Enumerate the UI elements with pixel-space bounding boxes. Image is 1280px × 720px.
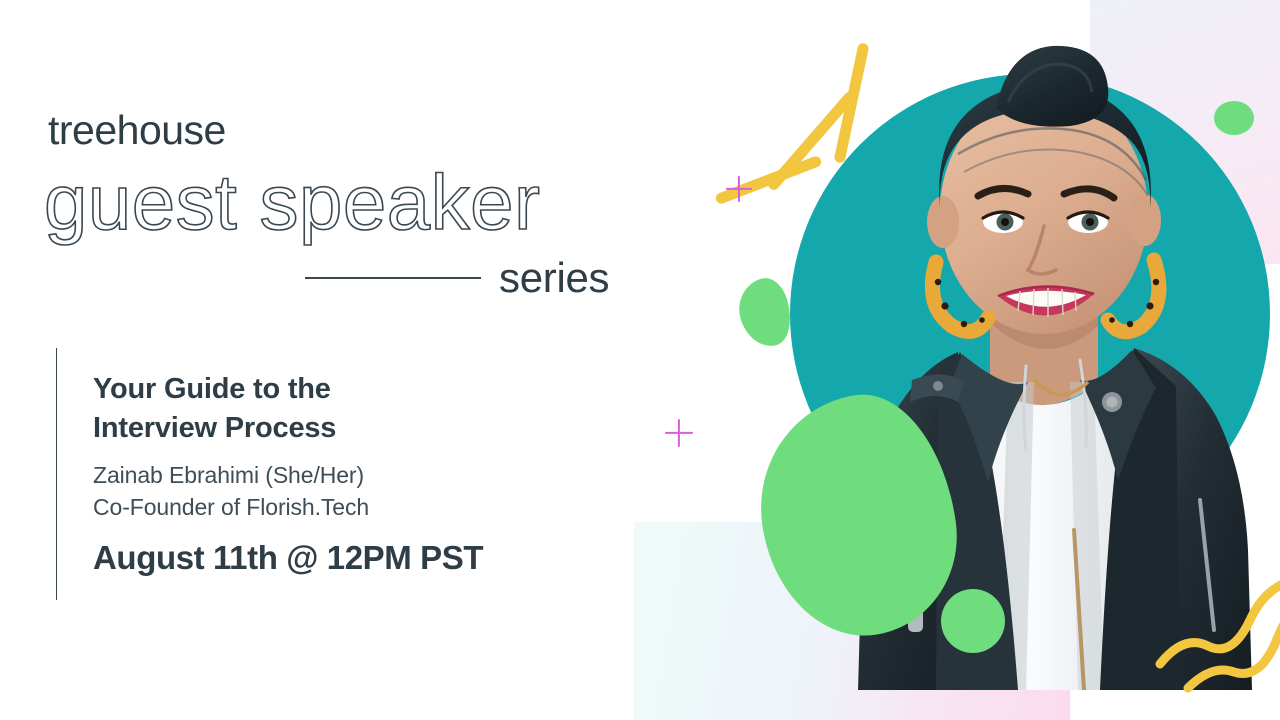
plus-mark-icon xyxy=(665,419,693,447)
green-oval-shape xyxy=(732,273,799,352)
green-circle-shape xyxy=(941,589,1005,653)
speaker-role: Co-Founder of Florish.Tech xyxy=(93,492,483,524)
series-divider xyxy=(305,277,481,279)
session-title: Your Guide to the Interview Process xyxy=(93,370,483,447)
session-datetime: August 11th @ 12PM PST xyxy=(93,539,483,577)
speaker-name: Zainab Ebrahimi (She/Her) xyxy=(93,460,483,492)
promo-banner: treehouse guest speaker series Your Guid… xyxy=(0,0,1280,720)
series-label: series xyxy=(499,254,609,302)
series-row: series xyxy=(305,254,609,302)
plus-mark-icon xyxy=(726,176,752,202)
session-info-block: Your Guide to the Interview Process Zain… xyxy=(56,348,483,600)
brand-wordmark: treehouse xyxy=(48,107,226,154)
session-title-line-1: Your Guide to the xyxy=(93,370,483,409)
session-title-line-2: Interview Process xyxy=(93,409,483,448)
wavy-lines-icon xyxy=(1150,560,1280,710)
headline-outline: guest speaker xyxy=(44,158,540,248)
